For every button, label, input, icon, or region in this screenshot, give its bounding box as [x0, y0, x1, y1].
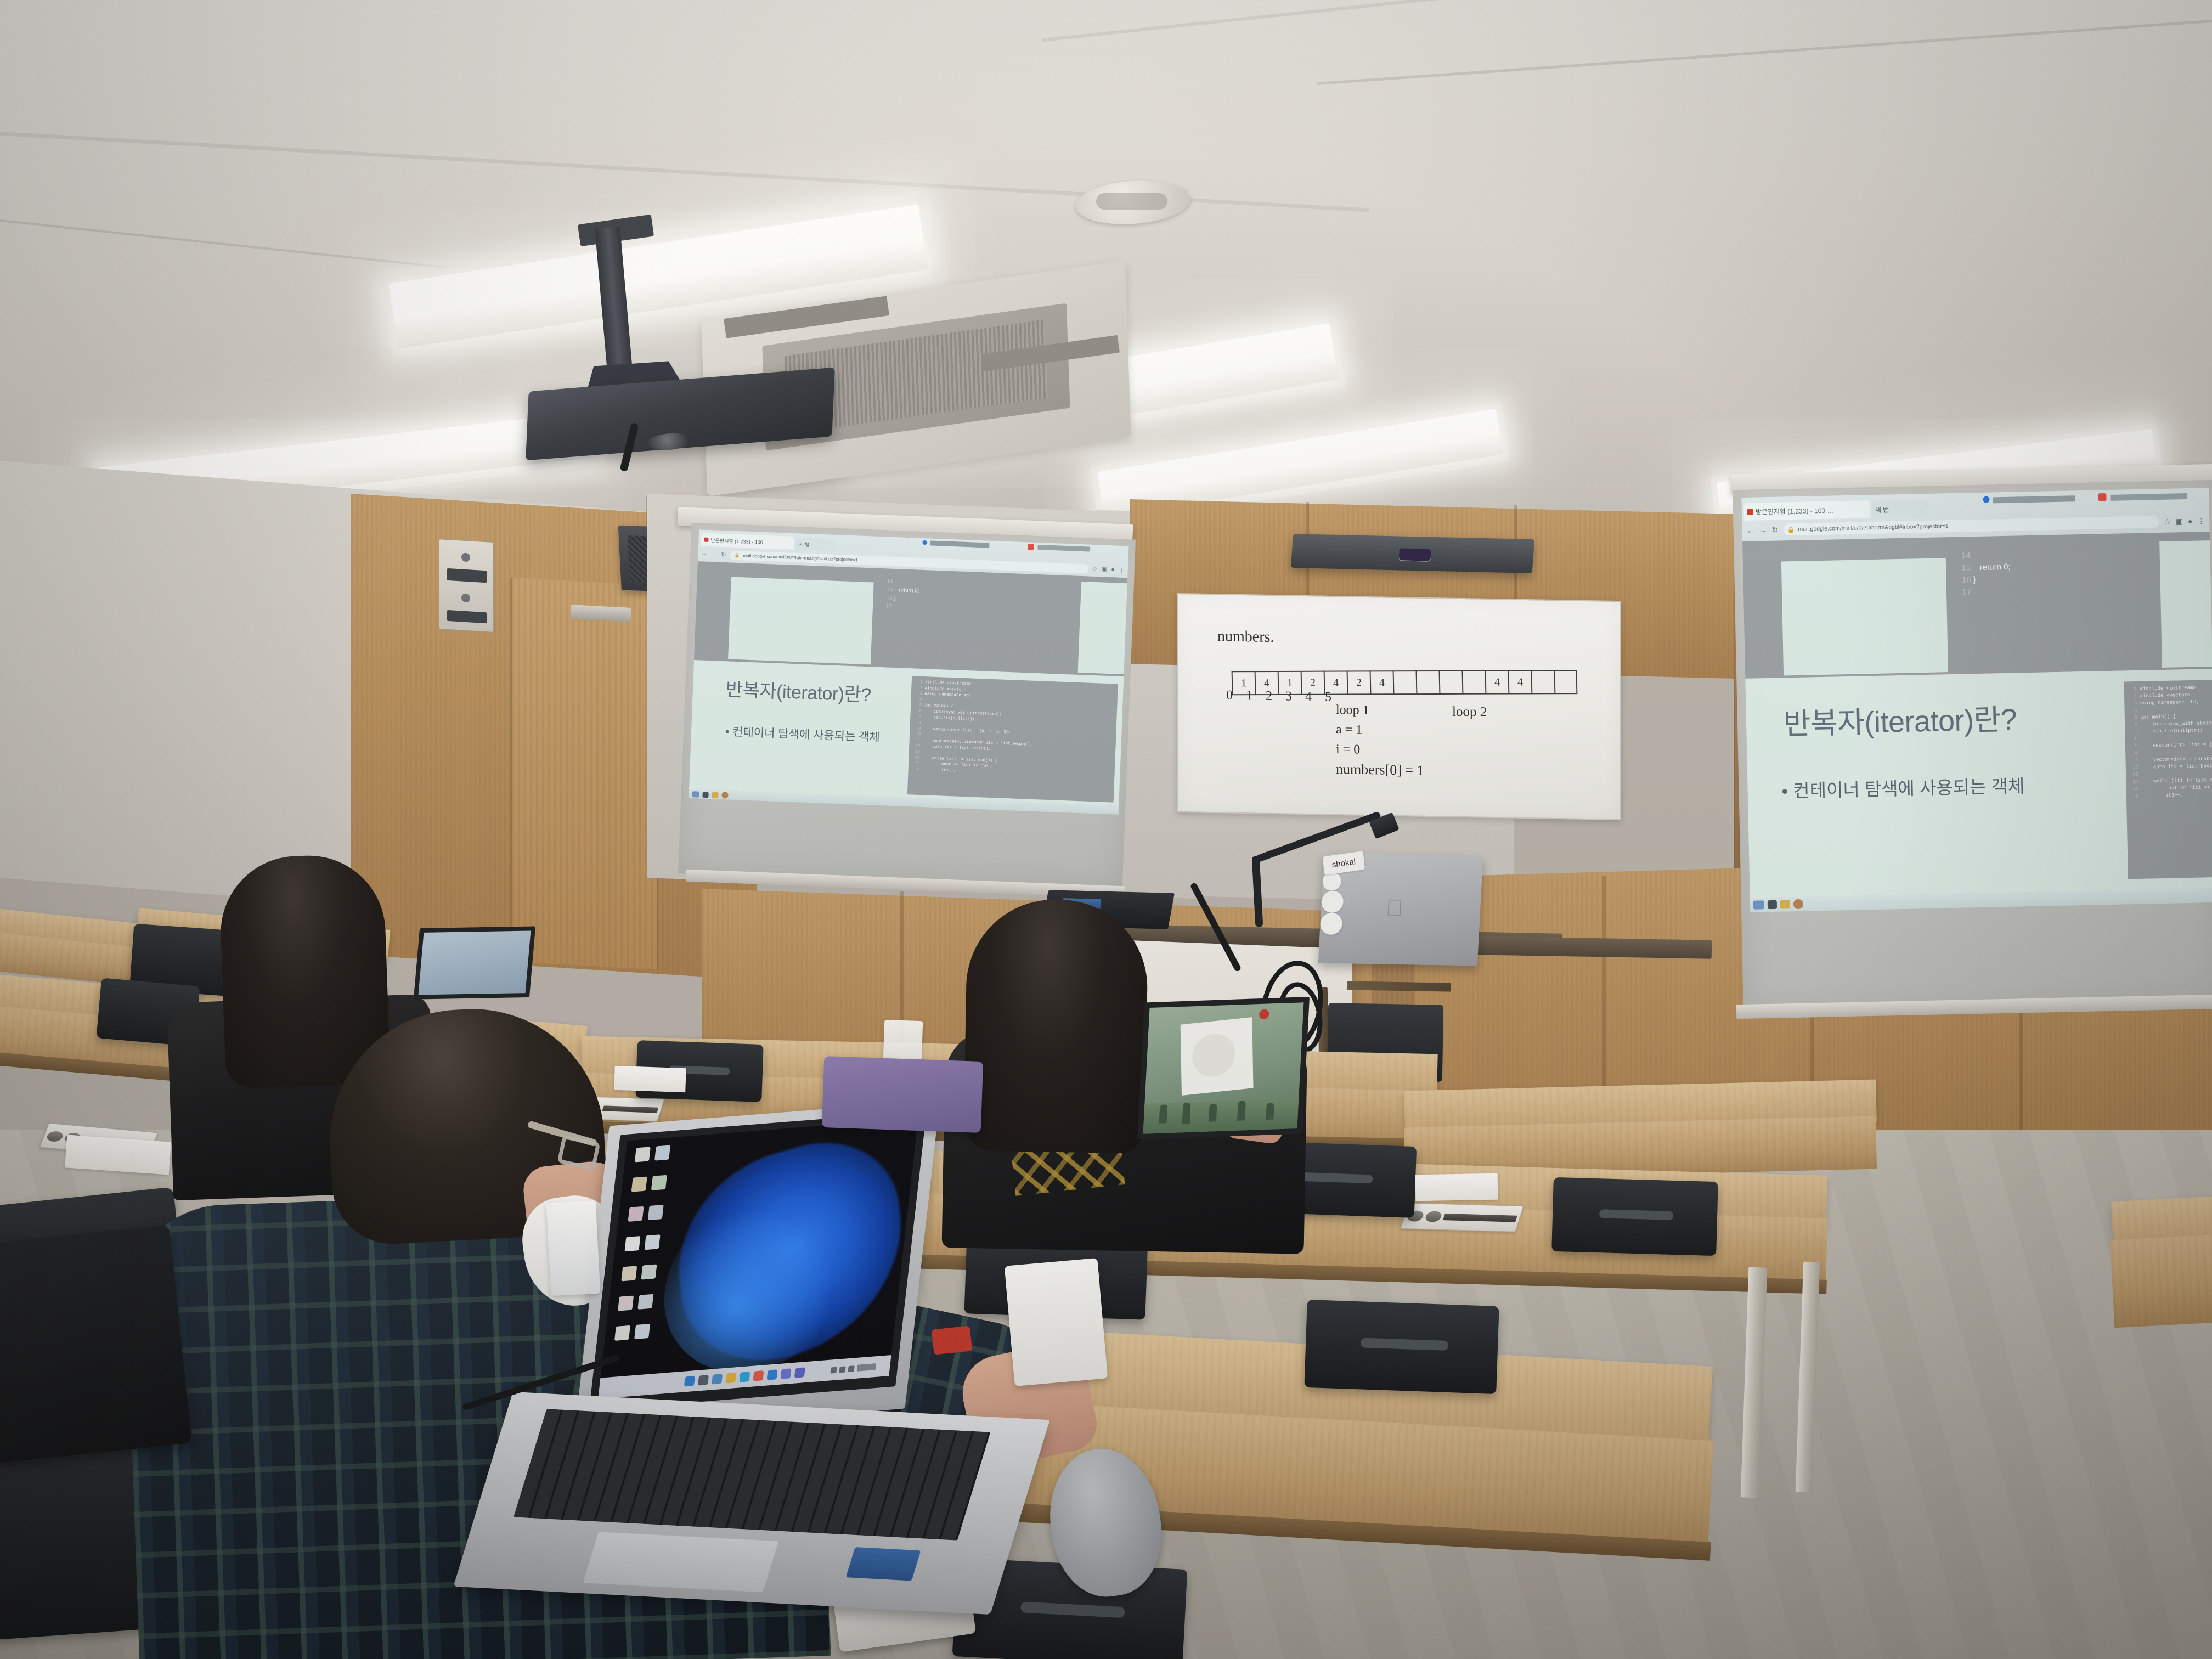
- laptop-sticker-round: [1321, 890, 1344, 913]
- whiteboard-note: i = 0: [1336, 740, 1424, 761]
- tab-title-blur: [1037, 545, 1090, 552]
- desk-power-outlet[interactable]: [1400, 1203, 1523, 1232]
- tab-title: 새 탭: [1875, 505, 1889, 515]
- desktop-icon[interactable]: [624, 1236, 640, 1251]
- water-bottle: [546, 1200, 601, 1296]
- star-icon[interactable]: ☆: [2164, 517, 2171, 526]
- desktop-icon[interactable]: [635, 1147, 651, 1162]
- whiteboard-array-cell: 4: [1370, 670, 1393, 695]
- desktop-icon[interactable]: [628, 1206, 644, 1222]
- code-tail: 14 15 return 0; 16 } 17: [878, 574, 1073, 669]
- desktop-icon[interactable]: [654, 1145, 670, 1160]
- instructor-chair-rail: [1347, 981, 1451, 991]
- code-tail: 14 15 return 0; 16 } 17: [1954, 541, 2159, 667]
- star-icon[interactable]: ☆: [1092, 565, 1098, 572]
- charger-indicator: [932, 1325, 972, 1355]
- tab-favicon: [1983, 496, 1989, 503]
- code-line-number: 1: [914, 679, 923, 685]
- whiteboard-array-cell: 4: [1485, 670, 1509, 695]
- whiteboard-array-cell: [1416, 670, 1440, 695]
- code-line-number: 6: [912, 708, 921, 714]
- desktop-icon[interactable]: [634, 1324, 650, 1339]
- discord-icon[interactable]: [781, 1368, 792, 1379]
- start-button[interactable]: [684, 1376, 695, 1387]
- tab-favicon: [1028, 544, 1034, 550]
- code-line-number: 2: [2127, 693, 2137, 700]
- outlet-cover: [1443, 1214, 1517, 1222]
- tab-title: 받은편지함 (1,233) - 100 …: [710, 537, 769, 546]
- gmail-favicon: [704, 538, 708, 542]
- whiteboard-array-cell: [1554, 670, 1577, 694]
- desktop-icon[interactable]: [648, 1205, 664, 1220]
- laptop-screen: [1143, 1002, 1304, 1133]
- tab-title-blur: [1993, 495, 2075, 503]
- desktop-icon[interactable]: [637, 1294, 653, 1310]
- battery-icon[interactable]: [848, 1365, 855, 1372]
- laptop-trackpad[interactable]: [583, 1531, 779, 1593]
- code-line-number: 7: [912, 714, 921, 720]
- whiteboard-notes: loop 1a = 1i = 0numbers[0] = 1: [1336, 700, 1424, 781]
- outlet-cover: [602, 1105, 658, 1113]
- intel-evo-sticker: [846, 1547, 921, 1581]
- slide-bullet: • 컨테이너 탐색에 사용되는 객체: [725, 723, 880, 745]
- code-line-number: 6: [2128, 721, 2137, 729]
- instructor-macbook[interactable]:  shokal: [1318, 854, 1483, 966]
- puzzle-icon[interactable]: ▣: [1102, 566, 1108, 573]
- address-bar-url[interactable]: mail.google.com/mail/u/0/?tab=rm&ogbl#in…: [1798, 523, 1949, 533]
- classroom-photo: 받은편지함 (1,233) - 100 … 새 탭 ← → ↻: [0, 0, 2212, 1659]
- code-line-text: [922, 697, 924, 703]
- code-line-number: 3: [2127, 700, 2137, 707]
- taskbar-icon[interactable]: [1780, 900, 1790, 909]
- code-line-number: 4: [2127, 707, 2137, 714]
- whiteboard-note: a = 1: [1336, 720, 1424, 741]
- code-line-number: 8: [2128, 736, 2138, 743]
- taskbar-icon[interactable]: [1793, 899, 1803, 909]
- browser-tab-inactive[interactable]: 새 탭: [795, 538, 838, 551]
- code-line-number: 10: [2128, 750, 2138, 757]
- whiteboard-index-row: 0 1 2 3 4 5: [1226, 689, 1336, 706]
- reload-icon[interactable]: ↻: [1771, 525, 1778, 534]
- code-line-text: [920, 749, 923, 755]
- arrow-left-icon[interactable]: ←: [701, 550, 707, 557]
- laptop-base[interactable]: [453, 1392, 1049, 1615]
- avatar-icon[interactable]: ●: [1111, 566, 1115, 573]
- code-line-number: 13: [911, 749, 920, 755]
- code-line-text: [921, 720, 924, 726]
- whiteboard-note-right: loop 2: [1452, 704, 1487, 720]
- arrow-right-icon[interactable]: →: [711, 551, 717, 557]
- vscode-icon[interactable]: [766, 1369, 777, 1380]
- code-line-number: 1: [2127, 686, 2137, 693]
- black-backpack: [0, 1224, 192, 1463]
- laptop-sticker-round: [1322, 872, 1342, 891]
- code-line-text: cout << *it1 << '\n';: [2138, 784, 2212, 793]
- chair[interactable]: [1551, 1177, 1718, 1256]
- student-left-laptop[interactable]: [414, 926, 535, 999]
- desktop-icons[interactable]: [611, 1144, 679, 1368]
- tab-title: 새 탭: [799, 540, 810, 548]
- lock-icon: 🔒: [1787, 526, 1795, 533]
- slide-bullet: • 컨테이너 탐색에 사용되는 객체: [1781, 771, 2025, 803]
- explorer-icon[interactable]: [725, 1373, 736, 1384]
- taskbar-icon[interactable]: [692, 791, 699, 797]
- code-line-text: [2138, 736, 2141, 743]
- tab-title-blur: [2110, 493, 2187, 501]
- smoke-detector-vent: [1096, 193, 1167, 210]
- code-line-text: [2137, 707, 2140, 714]
- laptop-screen: [598, 1118, 918, 1399]
- code-line-text: [921, 732, 923, 738]
- desktop-icon[interactable]: [614, 1325, 630, 1341]
- desktop-icon[interactable]: [641, 1264, 657, 1279]
- kebab-menu-icon[interactable]: ⋮: [2197, 516, 2205, 526]
- teams-icon[interactable]: [794, 1367, 805, 1378]
- student-mid-laptop[interactable]: [1137, 997, 1310, 1139]
- desktop-icon[interactable]: [621, 1266, 637, 1281]
- student-mid-center-hair: [963, 898, 1149, 1154]
- code-line-number: 15: [2129, 786, 2138, 793]
- apple-logo: : [1385, 896, 1404, 920]
- whiteboard-array-cell: [1531, 670, 1554, 694]
- whiteboard-note: numbers[0] = 1: [1336, 759, 1424, 781]
- desktop-icon[interactable]: [651, 1175, 667, 1190]
- white-wall-charger: [1005, 1258, 1108, 1386]
- code-line-number: 11: [911, 737, 920, 743]
- laptop-screen: [419, 931, 531, 995]
- taskbar-icon[interactable]: [1768, 900, 1777, 909]
- whiteboard-note: loop 1: [1336, 700, 1424, 721]
- right-projection-screen: 받은편지함 (1,233) - 100 … 새 탭 ← → ↻ 🔒: [1733, 480, 2212, 1017]
- code-line-number: 9: [2128, 743, 2138, 750]
- slide-title: 반복자(iterator)란?: [725, 674, 872, 707]
- laptop-sticker-text: shokal: [1323, 851, 1365, 875]
- chrome-icon[interactable]: [753, 1370, 764, 1381]
- slide-title: 반복자(iterator)란?: [1783, 695, 2017, 743]
- outlet-socket[interactable]: [46, 1131, 65, 1142]
- desktop-icon[interactable]: [645, 1234, 661, 1250]
- edge-icon[interactable]: [739, 1372, 750, 1383]
- code-line-text: auto it2 = list.begin();: [2138, 763, 2212, 771]
- classroom-door[interactable]: [510, 577, 658, 969]
- whiteboard-array-cell: [1462, 670, 1486, 695]
- reload-icon[interactable]: ↻: [721, 551, 726, 558]
- whiteboard-array-cell: 4: [1508, 670, 1531, 694]
- code-line-text: cin.tie(nullptr);: [2137, 727, 2203, 735]
- code-line-number: 3: [913, 691, 922, 697]
- lock-icon: 🔒: [734, 552, 740, 557]
- laptop-keyboard[interactable]: [513, 1409, 990, 1541]
- outlet-socket[interactable]: [1424, 1211, 1443, 1222]
- gmail-favicon: [1747, 509, 1753, 515]
- paper-sheet: [614, 1066, 686, 1093]
- code-line-text: it1++;: [919, 767, 956, 774]
- code-line-number: 13: [2129, 771, 2138, 778]
- taskbar-icon[interactable]: [702, 791, 708, 797]
- browser-tab-inactive[interactable]: 새 탭: [1872, 500, 1929, 518]
- desktop-icon[interactable]: [618, 1296, 634, 1311]
- code-line-number: 11: [2128, 757, 2138, 764]
- whiteboard-array-cell: [1393, 670, 1417, 695]
- taskbar-icon[interactable]: [1753, 900, 1764, 909]
- code-line-number: 2: [913, 685, 922, 691]
- code-line-number: 12: [911, 743, 920, 749]
- code-line-text: it1++;: [2139, 792, 2183, 800]
- address-bar-url[interactable]: mail.google.com/mail/u/0/?tab=rm&ogbl#in…: [743, 553, 857, 562]
- code-line-text: [2138, 771, 2142, 778]
- av-wall-control-plate[interactable]: [439, 539, 494, 633]
- code-line-number: 4: [913, 697, 922, 703]
- code-line-number: 16: [2129, 793, 2139, 800]
- code-line-number: 9: [912, 726, 921, 732]
- laptop-sticker-round: [1320, 912, 1343, 935]
- arrow-left-icon[interactable]: ←: [1746, 526, 1754, 535]
- tab-favicon: [2098, 493, 2106, 501]
- kebab-menu-icon[interactable]: ⋮: [1119, 566, 1125, 573]
- code-line-number: 12: [2129, 764, 2138, 771]
- code-line-number: 16: [910, 766, 919, 772]
- avatar-icon[interactable]: ●: [2188, 517, 2193, 526]
- browser-tab-active[interactable]: 받은편지함 (1,233) - 100 …: [1744, 500, 1871, 521]
- desktop-icon[interactable]: [631, 1177, 647, 1192]
- code-line-text: [2138, 750, 2141, 757]
- browser-tab-active[interactable]: 받은편지함 (1,233) - 100 …: [701, 533, 794, 550]
- whiteboard-array-cell: [1439, 670, 1463, 695]
- taskbar-icon[interactable]: [712, 792, 718, 798]
- slide-code-pane: 1 #include <iostream>2 #include <vector>…: [2124, 679, 2212, 879]
- widgets-icon[interactable]: [712, 1374, 723, 1385]
- purple-bag: [822, 1056, 983, 1133]
- student-foreground-laptop[interactable]: [574, 1100, 940, 1435]
- whiteboard-array-cell: 2: [1347, 670, 1370, 695]
- code-line-number: 7: [2128, 729, 2137, 736]
- code-line-number: 15: [911, 761, 919, 767]
- tab-title-blur: [930, 540, 989, 548]
- desk-front-panel: [2110, 1229, 2212, 1328]
- left-projection-screen: 받은편지함 (1,233) - 100 … 새 탭 ← → ↻: [678, 523, 1136, 891]
- code-line-number: 5: [913, 703, 922, 709]
- taskbar-icon[interactable]: [721, 792, 728, 798]
- tab-favicon: [922, 540, 927, 545]
- arrow-right-icon[interactable]: →: [1759, 526, 1767, 534]
- volume-icon[interactable]: [839, 1366, 845, 1373]
- slide-code-pane: 1 #include <iostream>2 #include <vector>…: [907, 676, 1118, 802]
- code-line-number: 5: [2128, 714, 2137, 721]
- soundbar-status-led: [1399, 548, 1431, 561]
- whiteboard: numbers. 141242444 0 1 2 3 4 5 loop 1a =…: [1177, 593, 1621, 820]
- code-line-number: 14: [2129, 778, 2138, 786]
- whiteboard-label: numbers.: [1217, 628, 1274, 646]
- network-icon[interactable]: [830, 1367, 837, 1373]
- chair[interactable]: [1304, 1300, 1499, 1394]
- clock[interactable]: [857, 1363, 877, 1372]
- search-icon[interactable]: [698, 1375, 709, 1386]
- code-line-number: 10: [912, 732, 921, 738]
- puzzle-icon[interactable]: ▣: [2176, 517, 2183, 526]
- code-line-number: 14: [911, 755, 919, 761]
- paper-sheet: [1415, 1173, 1498, 1201]
- code-line-number: 8: [912, 720, 921, 726]
- tab-title: 받은편지함 (1,233) - 100 …: [1756, 505, 1834, 516]
- code-line-text: using namespace std;: [2137, 699, 2199, 707]
